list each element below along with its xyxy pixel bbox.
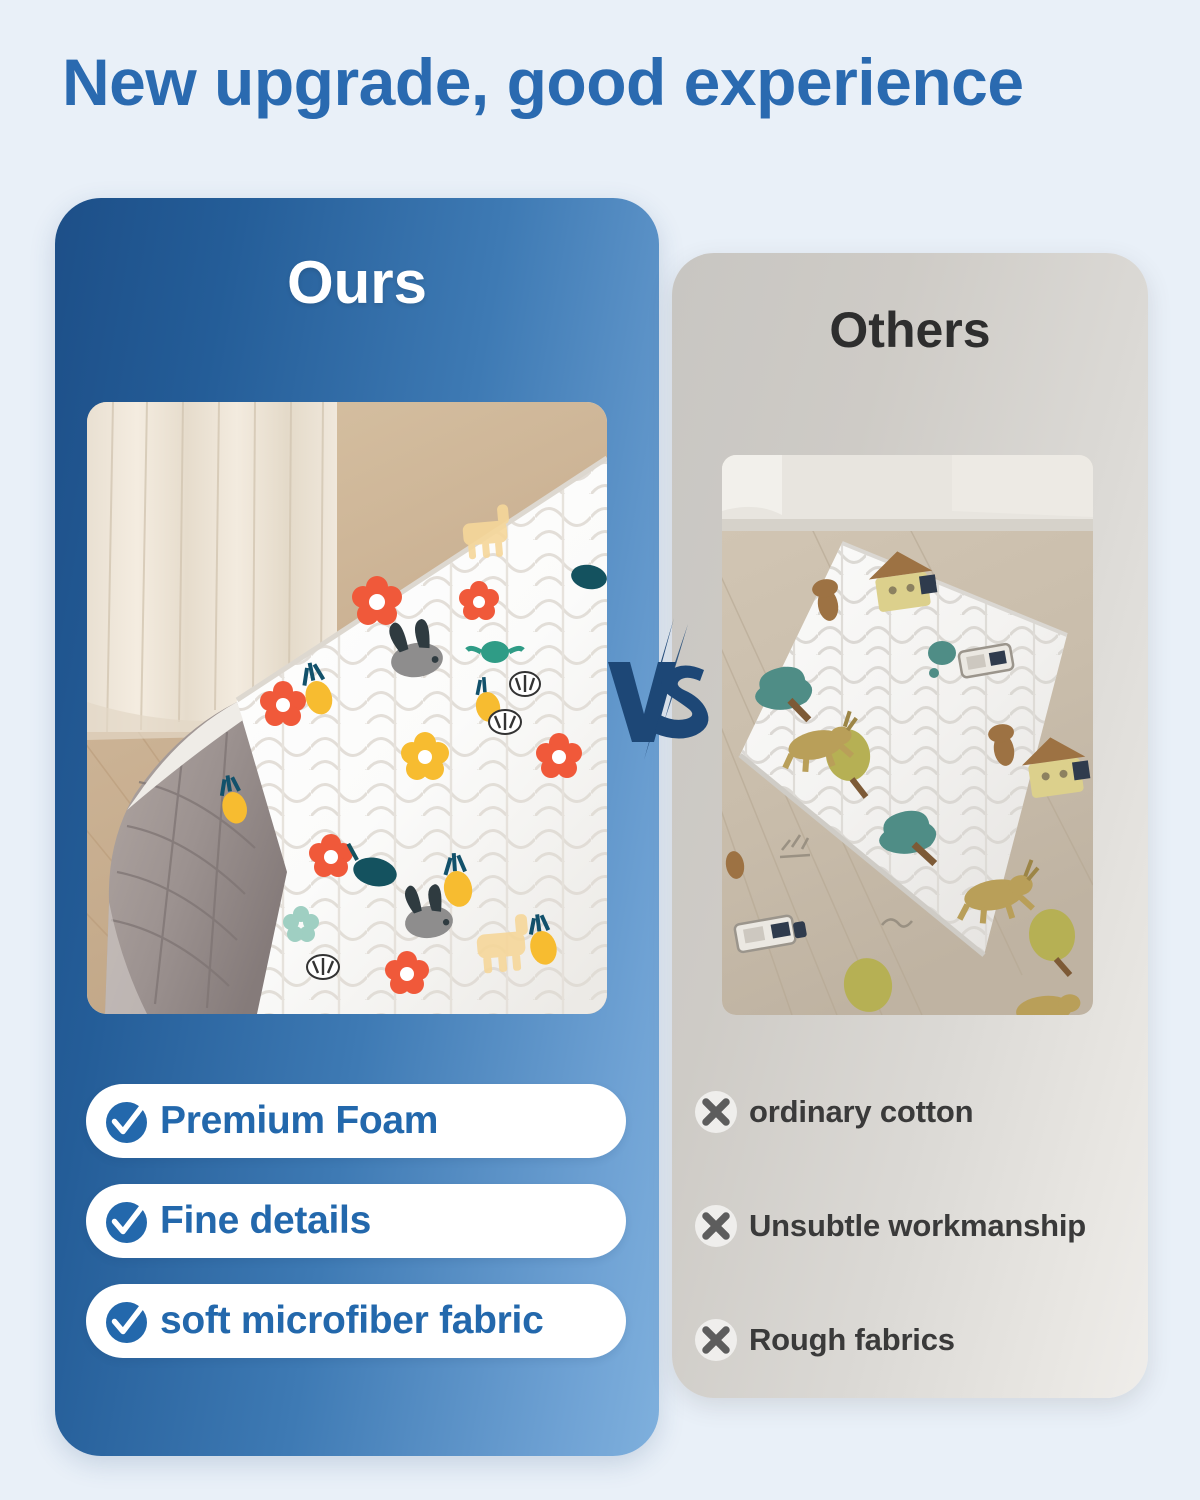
page-title: New upgrade, good experience (62, 48, 1162, 117)
ours-heading: Ours (55, 248, 659, 317)
x-circle-icon (693, 1203, 739, 1249)
x-circle-icon (693, 1317, 739, 1363)
list-item[interactable]: ordinary cotton (689, 1081, 1148, 1143)
list-item-label: Rough fabrics (749, 1322, 955, 1358)
x-circle-icon (693, 1089, 739, 1135)
list-item[interactable]: Rough fabrics (689, 1309, 1148, 1371)
list-item-label: Fine details (160, 1199, 371, 1243)
ours-feature-list: Premium Foam Fine details soft micro (86, 1084, 626, 1384)
list-item-label: Premium Foam (160, 1099, 438, 1143)
list-item-label: soft microfiber fabric (160, 1299, 543, 1343)
list-item[interactable]: Premium Foam (86, 1084, 626, 1158)
check-circle-icon (103, 1098, 150, 1145)
list-item[interactable]: soft microfiber fabric (86, 1284, 626, 1358)
others-panel: Others (672, 253, 1148, 1398)
check-circle-icon (103, 1198, 150, 1245)
list-item-label: ordinary cotton (749, 1094, 973, 1130)
list-item[interactable]: Unsubtle workmanship (689, 1195, 1148, 1257)
ours-panel: Ours (55, 198, 659, 1456)
list-item-label: Unsubtle workmanship (749, 1208, 1086, 1244)
others-heading: Others (672, 301, 1148, 359)
others-product-photo (722, 455, 1093, 1015)
list-item[interactable]: Fine details (86, 1184, 626, 1258)
check-circle-icon (103, 1298, 150, 1345)
ours-product-photo (87, 402, 607, 1014)
others-feature-list: ordinary cotton Unsubtle workmanship Rou… (689, 1081, 1148, 1398)
